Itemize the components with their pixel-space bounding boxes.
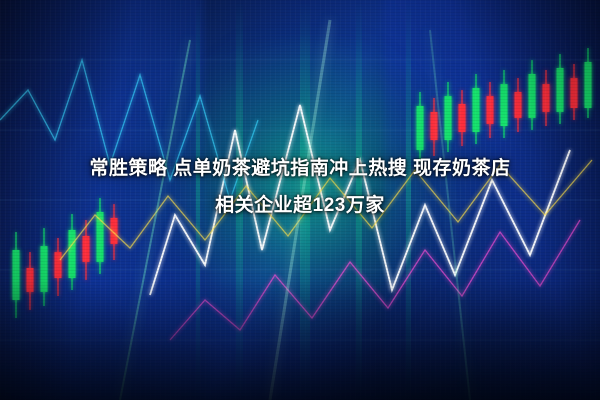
stock-banner-image: 常胜策略 点单奶茶避坑指南冲上热搜 现存奶茶店 相关企业超123万家 xyxy=(0,0,600,400)
headline-line-1: 常胜策略 点单奶茶避坑指南冲上热搜 现存奶茶店 xyxy=(89,158,510,179)
headline: 常胜策略 点单奶茶避坑指南冲上热搜 现存奶茶店 相关企业超123万家 xyxy=(0,150,600,224)
headline-line-2: 相关企业超123万家 xyxy=(0,187,600,224)
